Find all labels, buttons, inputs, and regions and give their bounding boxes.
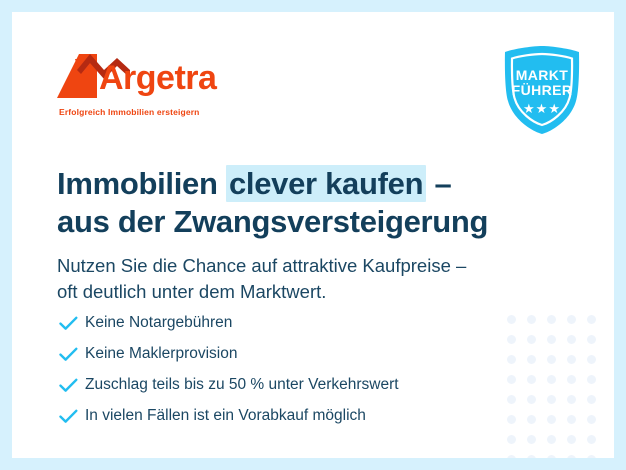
list-item-label: Zuschlag teils bis zu 50 % unter Verkehr… (85, 376, 399, 395)
logo-wordmark: Argetra (99, 61, 216, 95)
subheadline: Nutzen Sie die Chance auf attraktive Kau… (57, 253, 537, 307)
list-item: Keine Maklerprovision (59, 339, 489, 370)
benefits-list: Keine Notargebühren Keine Maklerprovisio… (59, 308, 489, 432)
headline-line-1-before: Immobilien (57, 166, 226, 201)
list-item: In vielen Fällen ist ein Vorabkauf mögli… (59, 401, 489, 432)
badge-line-2: FÜHRER (499, 82, 585, 98)
headline: Immobilien clever kaufen – aus der Zwang… (57, 165, 527, 241)
dot-grid-decoration (502, 310, 614, 458)
promo-banner: Argetra Erfolgreich Immobilien ersteiger… (0, 0, 626, 470)
subheadline-line-2: oft deutlich unter dem Marktwert. (57, 281, 326, 302)
check-icon (59, 409, 85, 424)
banner-card: Argetra Erfolgreich Immobilien ersteiger… (12, 12, 614, 458)
marktfuehrer-badge: MARKT FÜHRER ★★★ (499, 44, 585, 136)
headline-highlight: clever kaufen (226, 165, 426, 202)
list-item: Keine Notargebühren (59, 308, 489, 339)
badge-stars: ★★★ (499, 101, 585, 117)
logo-tagline: Erfolgreich Immobilien ersteigern (59, 107, 200, 117)
headline-line-2: aus der Zwangsversteigerung (57, 204, 488, 239)
argetra-logo[interactable]: Argetra Erfolgreich Immobilien ersteiger… (57, 46, 257, 124)
headline-line-1-after: – (426, 166, 451, 201)
list-item-label: Keine Maklerprovision (85, 345, 238, 364)
check-icon (59, 347, 85, 362)
badge-line-1: MARKT (499, 67, 585, 83)
check-icon (59, 316, 85, 331)
list-item: Zuschlag teils bis zu 50 % unter Verkehr… (59, 370, 489, 401)
list-item-label: In vielen Fällen ist ein Vorabkauf mögli… (85, 407, 366, 426)
list-item-label: Keine Notargebühren (85, 314, 232, 333)
subheadline-line-1: Nutzen Sie die Chance auf attraktive Kau… (57, 255, 466, 276)
check-icon (59, 378, 85, 393)
